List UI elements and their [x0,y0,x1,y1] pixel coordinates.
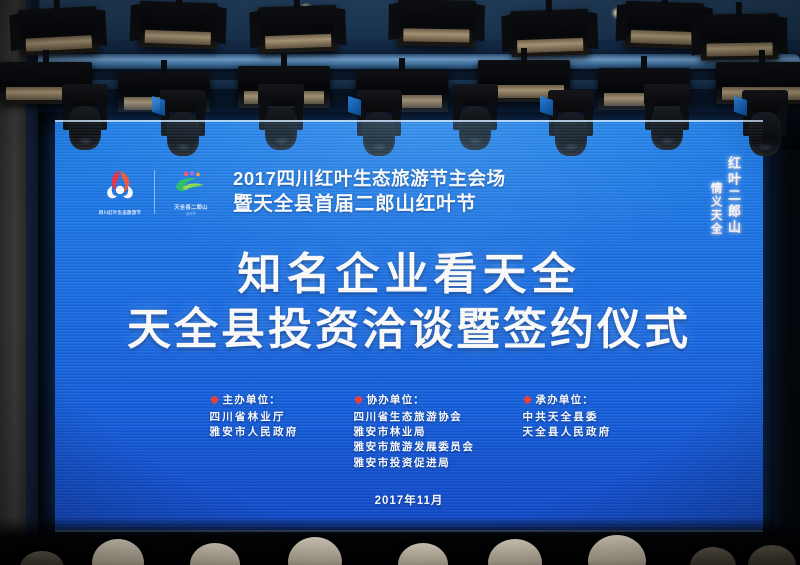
light-yoke [161,60,167,74]
main-headline: 知名企业看天全 天全县投资洽谈暨签约仪式 [55,250,763,355]
event-title-line2: 暨天全县首届二郎山红叶节 [233,192,506,216]
light-yoke [546,0,552,12]
light-yoke [399,58,405,72]
organizer-title: 承办单位： [536,392,595,407]
event-date: 2017年11月 [55,492,763,508]
barn-door-left [249,10,261,48]
light-lens [403,28,469,42]
barn-door-left [130,4,142,42]
organizer-title: 协办单位： [367,392,426,407]
calligraphy-column-2: 情义天全 [708,182,722,236]
audience-head [588,535,646,565]
festival-logo-right: 天全县二郎山 红叶节 [166,166,216,218]
barn-door-right [776,16,788,54]
audience-head [690,547,736,565]
barn-door-right [94,9,107,46]
calligraphy-column-1: 红叶二郎山 [726,156,741,236]
audience-head [92,539,144,565]
light-yoke [434,0,440,2]
barn-door-left [388,2,400,40]
par-light-fixture [18,6,98,56]
led-screen: 四川红叶生态旅游节 天全县二郎山 红叶节 [55,120,763,532]
maple-leaf-icon [354,395,363,405]
organizer-heading: 主办单位： [210,392,306,407]
light-yoke [281,54,287,68]
organizer-item: 四川省林业厅 [210,410,306,425]
stage-scene: 四川红叶生态旅游节 天全县二郎山 红叶节 [0,0,800,565]
light-lens [265,34,331,49]
screen-top-edge [55,120,763,122]
par-light-fixture [700,13,779,60]
logo-divider [154,170,155,214]
festival-logo-left-caption: 四川红叶生态旅游节 [97,210,143,216]
event-title-block: 2017四川红叶生态旅游节主会场 暨天全县首届二郎山红叶节 [233,168,506,217]
festival-logo-right-caption: 天全县二郎山 红叶节 [166,204,216,217]
light-yoke [662,0,668,4]
barn-door-right [334,8,346,46]
light-yoke [176,0,182,4]
par-light-fixture [138,1,218,50]
audience-head [20,551,64,565]
organizer-group: 主办单位：四川省林业厅雅安市人民政府 [200,392,306,440]
audience-head [288,537,342,565]
organizer-item: 雅安市旅游发展委员会 [354,440,475,455]
screen-header: 四川红叶生态旅游节 天全县二郎山 红叶节 [97,166,506,218]
calligraphy-block: 红叶二郎山 情义天全 [708,156,741,236]
light-lens [145,30,211,45]
light-yoke [521,48,527,62]
light-yoke [43,50,49,64]
organizer-item: 雅安市投资促进局 [354,456,475,471]
barn-door-left [9,13,22,51]
light-yoke [641,56,647,70]
light-yoke [736,2,742,16]
audience-head [398,543,448,565]
light-yoke [53,0,60,10]
flame-emblem-icon [103,168,137,200]
light-lens [631,30,697,45]
barn-door-left [691,18,703,56]
organizer-heading: 协办单位： [354,392,475,407]
organizer-group: 协办单位：四川省生态旅游协会雅安市林业局雅安市旅游发展委员会雅安市投资促进局 [354,392,475,471]
organizer-item: 天全县人民政府 [523,425,619,440]
festival-logo-left: 四川红叶生态旅游节 [97,166,143,218]
organizer-title: 主办单位： [223,392,282,407]
par-light-fixture [397,0,476,47]
screen-content: 四川红叶生态旅游节 天全县二郎山 红叶节 [55,120,763,532]
organizer-item: 雅安市人民政府 [210,425,306,440]
audience-head [488,539,542,565]
organizer-list: 主办单位：四川省林业厅雅安市人民政府协办单位：四川省生态旅游协会雅安市林业局雅安… [55,392,763,471]
light-yoke [294,0,300,8]
barn-door-right [473,4,485,42]
event-title-line1: 2017四川红叶生态旅游节主会场 [233,168,506,190]
headline-line1: 知名企业看天全 [55,250,763,299]
headline-line2: 天全县投资洽谈暨签约仪式 [55,305,763,354]
light-yoke [759,50,765,64]
festival-logo-right-caption-line1: 天全县二郎山 [174,205,208,211]
maple-leaf-icon [523,395,532,405]
organizer-item: 中共天全县委 [523,410,619,425]
organizer-heading: 承办单位： [523,392,619,407]
barn-door-right [586,12,598,50]
organizer-item: 雅安市林业局 [354,425,475,440]
light-lens [26,35,93,51]
barn-door-right [215,6,227,44]
audience-silhouette-row [0,517,800,565]
festival-logo-right-caption-line2: 红叶节 [166,212,216,217]
maple-leaf-icon [210,395,219,405]
par-light-fixture [258,5,338,54]
audience-head [748,545,796,565]
barn-door-left [501,14,513,52]
organizer-group: 承办单位：中共天全县委天全县人民政府 [523,392,619,440]
green-swoosh-leaf-icon [172,171,210,193]
barn-door-left [616,4,628,42]
organizer-item: 四川省生态旅游协会 [354,410,475,425]
audience-head [190,543,240,565]
